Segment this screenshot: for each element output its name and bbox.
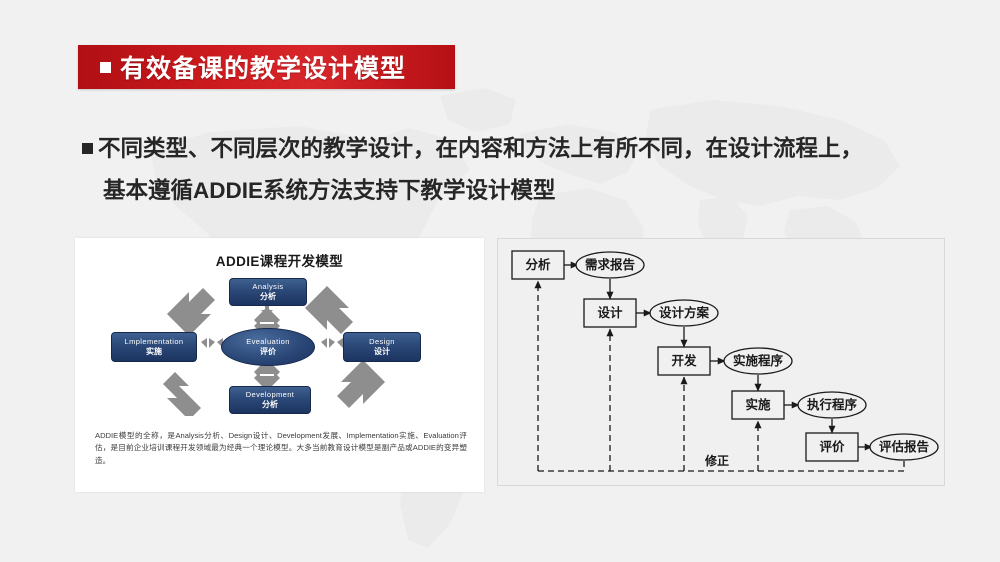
addie-node-development-zh: 分析 [262, 400, 278, 409]
flow-label-evaluate: 评价 [819, 440, 845, 454]
addie-node-analysis-zh: 分析 [260, 292, 276, 301]
addie-node-evaluation: Evealuation 评价 [221, 328, 315, 366]
flowchart-svg: 分析 需求报告 设计 设计方案 开发 实施程序 实施 执行程序 评价 评估报告 … [498, 239, 944, 485]
addie-node-design-zh: 设计 [374, 347, 390, 356]
addie-node-design-en: Design [369, 338, 395, 347]
addie-node-analysis: Analysis 分析 [229, 278, 307, 306]
addie-node-analysis-en: Analysis [252, 283, 283, 292]
dark-square-bullet-icon [82, 143, 93, 154]
addie-node-implementation-zh: 实施 [146, 347, 162, 356]
flow-label-implement: 实施 [745, 397, 771, 412]
flow-label-impl-program: 实施程序 [733, 353, 784, 368]
flow-label-eval-report: 评估报告 [879, 439, 930, 454]
addie-node-evaluation-zh: 评价 [260, 347, 276, 356]
addie-caption: ADDIE模型的全称，是Analysis分析、Design设计、Developm… [95, 430, 467, 467]
addie-node-evaluation-en: Evealuation [246, 338, 290, 347]
addie-model-image: ADDIE课程开发模型 [75, 238, 484, 492]
addie-node-development: Development 分析 [229, 386, 311, 414]
instructional-design-flowchart: 分析 需求报告 设计 设计方案 开发 实施程序 实施 执行程序 评价 评估报告 … [497, 238, 945, 486]
flow-label-exec-program: 执行程序 [807, 397, 858, 412]
white-square-bullet-icon [100, 62, 111, 73]
flow-label-develop: 开发 [671, 353, 697, 368]
addie-node-design: Design 设计 [343, 332, 421, 362]
body-paragraph: 不同类型、不同层次的教学设计，在内容和方法上有所不同，在设计流程上， 基本遵循A… [82, 128, 972, 212]
addie-node-development-en: Development [246, 391, 295, 400]
slide-canvas: 有效备课的教学设计模型 不同类型、不同层次的教学设计，在内容和方法上有所不同，在… [0, 0, 1000, 562]
addie-diagram-title: ADDIE课程开发模型 [75, 250, 484, 270]
flow-label-design-plan: 设计方案 [659, 305, 710, 320]
flow-label-analysis: 分析 [525, 257, 551, 272]
addie-node-implementation-en: Lmplementation [125, 338, 184, 347]
addie-node-implementation: Lmplementation 实施 [111, 332, 197, 362]
page-title: 有效备课的教学设计模型 [120, 49, 406, 85]
addie-cycle-diagram: Analysis 分析 Lmplementation 实施 Evealuatio… [105, 276, 455, 416]
body-line-1: 不同类型、不同层次的教学设计，在内容和方法上有所不同，在设计流程上， [98, 136, 863, 161]
flow-label-design: 设计 [597, 305, 623, 320]
page-title-banner: 有效备课的教学设计模型 [78, 45, 455, 89]
flow-label-requirement: 需求报告 [585, 257, 636, 272]
body-line-2: 基本遵循ADDIE系统方法支持下教学设计模型 [82, 170, 972, 212]
flow-label-revision: 修正 [704, 453, 729, 468]
